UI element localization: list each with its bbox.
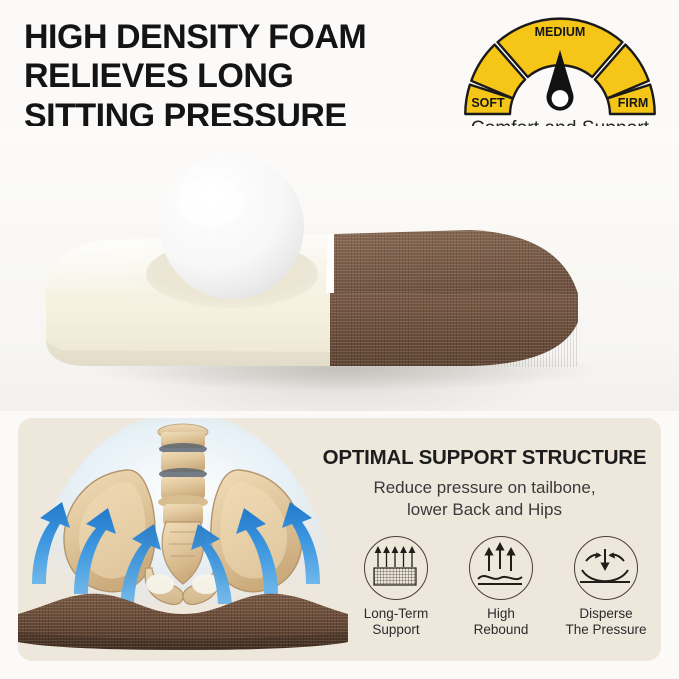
- feature-label-1-line-2: Support: [348, 622, 444, 638]
- feature-label-3-line-2: The Pressure: [558, 622, 654, 638]
- feature-list: Long-Term Support: [348, 536, 654, 639]
- feature-label-2-line-1: High: [453, 606, 549, 622]
- gauge-svg: SOFT MEDIUM FIRM: [452, 14, 668, 118]
- fabric-top-texture: [334, 230, 578, 294]
- gauge-label-medium: MEDIUM: [535, 25, 586, 39]
- support-structure-panel: OPTIMAL SUPPORT STRUCTURE Reduce pressur…: [18, 418, 661, 661]
- pelvis-illustration: [18, 418, 348, 661]
- hero-product-image: [0, 126, 679, 411]
- gauge-dial: SOFT MEDIUM FIRM: [452, 14, 668, 118]
- feature-label-2: High Rebound: [453, 606, 549, 639]
- pelvis-svg: [18, 418, 348, 661]
- feature-high-rebound: High Rebound: [453, 536, 549, 639]
- panel-title: OPTIMAL SUPPORT STRUCTURE: [308, 446, 661, 470]
- feature-label-2-line-2: Rebound: [453, 622, 549, 638]
- feature-circle-1: [364, 536, 428, 600]
- feature-label-1: Long-Term Support: [348, 606, 444, 639]
- headline-line-2: RELIEVES LONG: [24, 57, 454, 96]
- fabric-side-texture: [330, 293, 578, 367]
- product-infographic: HIGH DENSITY FOAM RELIEVES LONG SITTING …: [0, 0, 679, 679]
- headline-line-1: HIGH DENSITY FOAM: [24, 18, 454, 57]
- spine-group: [158, 424, 208, 526]
- gauge-needle-hole: [552, 90, 569, 107]
- panel-subtitle: Reduce pressure on tailbone, lower Back …: [308, 477, 661, 521]
- feature-label-3-line-1: Disperse: [558, 606, 654, 622]
- feature-circle-3: [574, 536, 638, 600]
- feature-disperse-pressure: Disperse The Pressure: [558, 536, 654, 639]
- mesh-block: [374, 568, 416, 585]
- panel-text-block: OPTIMAL SUPPORT STRUCTURE Reduce pressur…: [308, 446, 661, 521]
- feature-circle-2: [469, 536, 533, 600]
- down-arrow-disperse-icon: [575, 537, 635, 597]
- page-title: HIGH DENSITY FOAM RELIEVES LONG SITTING …: [24, 18, 454, 136]
- panel-subtitle-line-2: lower Back and Hips: [308, 499, 661, 521]
- ball-highlight: [176, 178, 244, 226]
- left-foramen: [146, 574, 174, 594]
- feature-long-term-support: Long-Term Support: [348, 536, 444, 639]
- feature-label-1-line-1: Long-Term: [348, 606, 444, 622]
- gauge-label-soft: SOFT: [471, 96, 505, 110]
- pressure-ball: [160, 155, 304, 299]
- grid-up-arrows-icon: [365, 537, 425, 597]
- wave-line: [478, 576, 522, 579]
- sag-curve: [582, 570, 628, 581]
- feature-label-3: Disperse The Pressure: [558, 606, 654, 639]
- gauge-label-firm: FIRM: [618, 96, 649, 110]
- cushion-illustration: [0, 126, 679, 411]
- wave-up-arrows-icon: [470, 537, 530, 597]
- panel-subtitle-line-1: Reduce pressure on tailbone,: [308, 477, 661, 499]
